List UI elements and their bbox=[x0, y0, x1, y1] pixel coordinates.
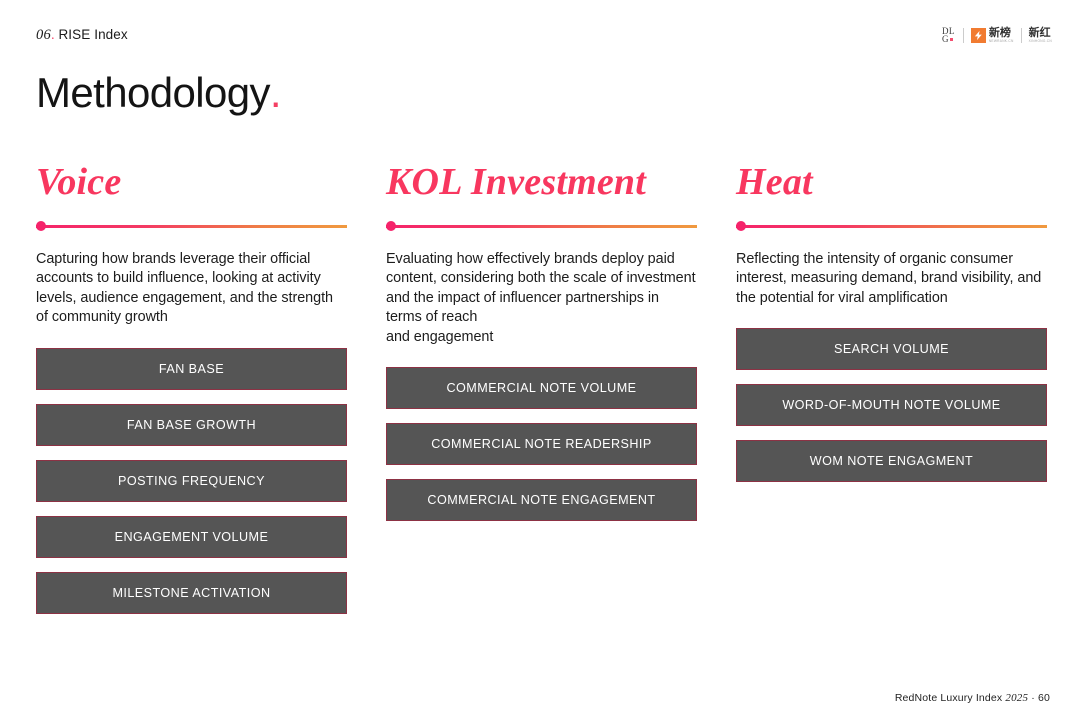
metric-box[interactable]: WORD-OF-MOUTH NOTE VOLUME bbox=[736, 384, 1047, 426]
pillar-metrics-list: SEARCH VOLUME WORD-OF-MOUTH NOTE VOLUME … bbox=[736, 328, 1047, 482]
dlg-logo: DL G bbox=[942, 27, 956, 44]
section-kicker: 06. RISE Index bbox=[36, 27, 128, 44]
metric-label: COMMERCIAL NOTE READERSHIP bbox=[431, 437, 651, 451]
metric-box[interactable]: FAN BASE GROWTH bbox=[36, 404, 347, 446]
newrank-logo: 新榜 NEWRANK.CN bbox=[971, 28, 1014, 43]
newrank-text: 新榜 NEWRANK.CN bbox=[989, 28, 1014, 43]
kicker-dot: . bbox=[51, 27, 54, 42]
metric-box[interactable]: COMMERCIAL NOTE VOLUME bbox=[386, 367, 697, 409]
logo-divider-1 bbox=[963, 28, 964, 43]
pillar-metrics-list: COMMERCIAL NOTE VOLUME COMMERCIAL NOTE R… bbox=[386, 367, 697, 521]
newrank-cn-label: 新榜 bbox=[989, 28, 1011, 39]
xinhong-logo: 新红 XINHONG.CN bbox=[1029, 28, 1052, 43]
metric-box[interactable]: FAN BASE bbox=[36, 348, 347, 390]
page-title-accent-dot: . bbox=[270, 69, 281, 116]
pillar-rule-dot-icon bbox=[736, 221, 746, 231]
pillar-column-kol-investment: KOL Investment Evaluating how effectivel… bbox=[386, 160, 697, 628]
metric-label: MILESTONE ACTIVATION bbox=[112, 586, 270, 600]
metric-label: FAN BASE bbox=[159, 362, 224, 376]
kicker-number: 06 bbox=[36, 27, 51, 43]
metric-label: COMMERCIAL NOTE VOLUME bbox=[447, 381, 637, 395]
pillar-description: Reflecting the intensity of organic cons… bbox=[736, 250, 1047, 308]
dlg-logo-line2: G bbox=[942, 35, 955, 44]
pillars-row: Voice Capturing how brands leverage thei… bbox=[36, 160, 1044, 628]
metric-box[interactable]: POSTING FREQUENCY bbox=[36, 460, 347, 502]
dlg-logo-line2-text: G bbox=[942, 34, 949, 44]
newrank-sub-label: NEWRANK.CN bbox=[989, 39, 1014, 43]
pillar-description: Evaluating how effectively brands deploy… bbox=[386, 250, 697, 347]
pillar-rule-dot-icon bbox=[386, 221, 396, 231]
pillar-rule bbox=[736, 220, 1047, 234]
pillar-rule-dot-icon bbox=[36, 221, 46, 231]
pillar-rule-line bbox=[736, 225, 1047, 228]
slide-footer: RedNote Luxury Index 2025 · 60 bbox=[895, 692, 1050, 704]
logo-divider-2 bbox=[1021, 28, 1022, 43]
pillar-column-voice: Voice Capturing how brands leverage thei… bbox=[36, 160, 347, 628]
pillar-rule bbox=[36, 220, 347, 234]
pillar-column-heat: Heat Reflecting the intensity of organic… bbox=[736, 160, 1047, 628]
metric-box[interactable]: COMMERCIAL NOTE READERSHIP bbox=[386, 423, 697, 465]
footer-page-number: 60 bbox=[1038, 692, 1050, 704]
footer-title: RedNote Luxury Index bbox=[895, 692, 1002, 704]
pillar-title: KOL Investment bbox=[386, 160, 697, 204]
dlg-logo-square-icon bbox=[950, 38, 953, 41]
metric-label: FAN BASE GROWTH bbox=[127, 418, 256, 432]
metric-box[interactable]: SEARCH VOLUME bbox=[736, 328, 1047, 370]
pillar-rule-line bbox=[36, 225, 347, 228]
pillar-title: Voice bbox=[36, 160, 347, 204]
page-title: Methodology. bbox=[36, 68, 281, 118]
metric-box[interactable]: WOM NOTE ENGAGMENT bbox=[736, 440, 1047, 482]
metric-label: ENGAGEMENT VOLUME bbox=[115, 530, 269, 544]
slide-header: 06. RISE Index DL G 新榜 NEWRANK.CN bbox=[36, 22, 1052, 48]
metric-label: SEARCH VOLUME bbox=[834, 342, 949, 356]
pillar-metrics-list: FAN BASE FAN BASE GROWTH POSTING FREQUEN… bbox=[36, 348, 347, 614]
slide: 06. RISE Index DL G 新榜 NEWRANK.CN bbox=[0, 0, 1080, 720]
metric-label: WOM NOTE ENGAGMENT bbox=[810, 454, 973, 468]
logo-lockup: DL G 新榜 NEWRANK.CN 新红 XINHONG.CN bbox=[942, 27, 1052, 44]
metric-box[interactable]: MILESTONE ACTIVATION bbox=[36, 572, 347, 614]
pillar-rule bbox=[386, 220, 697, 234]
pillar-description: Capturing how brands leverage their offi… bbox=[36, 250, 347, 328]
metric-box[interactable]: COMMERCIAL NOTE ENGAGEMENT bbox=[386, 479, 697, 521]
footer-year: 2025 bbox=[1005, 692, 1028, 704]
metric-label: COMMERCIAL NOTE ENGAGEMENT bbox=[427, 493, 655, 507]
pillar-title: Heat bbox=[736, 160, 1047, 204]
kicker-label: RISE Index bbox=[58, 27, 127, 42]
pillar-rule-line bbox=[386, 225, 697, 228]
footer-separator: · bbox=[1031, 692, 1035, 704]
xinhong-sub-label: XINHONG.CN bbox=[1029, 39, 1052, 43]
metric-label: WORD-OF-MOUTH NOTE VOLUME bbox=[782, 398, 1000, 412]
page-title-text: Methodology bbox=[36, 69, 270, 116]
metric-label: POSTING FREQUENCY bbox=[118, 474, 265, 488]
metric-box[interactable]: ENGAGEMENT VOLUME bbox=[36, 516, 347, 558]
lightning-bolt-icon bbox=[971, 28, 986, 43]
xinhong-cn-label: 新红 bbox=[1029, 28, 1051, 39]
